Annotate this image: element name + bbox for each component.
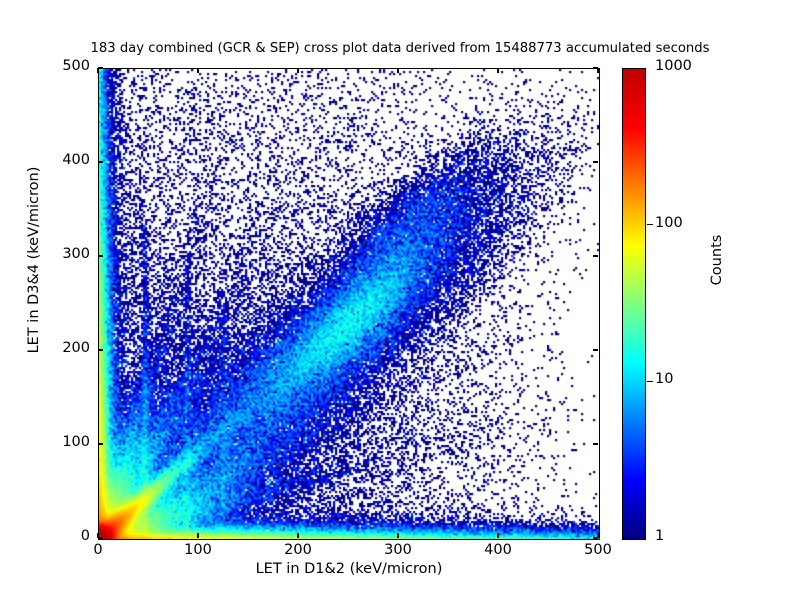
x-tick-label: 300 <box>358 542 438 558</box>
colorbar-tick-label: 1000 <box>655 58 692 74</box>
x-tick-mark <box>197 68 198 73</box>
y-tick-label: 400 <box>10 152 90 168</box>
y-tick-label: 500 <box>10 58 90 74</box>
title-line-1: 183 day combined (GCR & SEP) cross plot … <box>0 40 800 58</box>
y-tick-label: 300 <box>10 246 90 262</box>
x-tick-mark <box>397 68 398 73</box>
colorbar-tick-label: 1 <box>655 528 664 544</box>
x-axis-label: LET in D1&2 (keV/micron) <box>98 561 600 577</box>
x-tick-mark <box>97 68 98 73</box>
y-tick-mark <box>98 67 103 68</box>
colorbar-tick-mark <box>647 224 653 225</box>
x-tick-label: 0 <box>58 542 138 558</box>
y-tick-mark <box>98 537 103 538</box>
y-tick-mark <box>593 67 598 68</box>
y-axis-label: LET in D3&4 (keV/micron) <box>26 100 42 420</box>
x-tick-label: 200 <box>258 542 338 558</box>
y-tick-mark <box>593 443 598 444</box>
colorbar-gradient <box>623 69 645 539</box>
y-tick-mark <box>98 161 103 162</box>
colorbar-label: Counts <box>709 160 725 360</box>
y-tick-mark <box>593 349 598 350</box>
x-tick-mark <box>397 533 398 538</box>
x-tick-mark <box>197 533 198 538</box>
x-tick-mark <box>497 68 498 73</box>
x-tick-label: 500 <box>558 542 638 558</box>
y-tick-mark <box>593 537 598 538</box>
x-tick-label: 100 <box>158 542 238 558</box>
y-tick-label: 100 <box>10 434 90 450</box>
y-tick-mark <box>98 443 103 444</box>
colorbar <box>622 68 646 540</box>
x-tick-label: 400 <box>458 542 538 558</box>
y-tick-mark <box>98 349 103 350</box>
x-tick-mark <box>597 68 598 73</box>
x-tick-mark <box>297 68 298 73</box>
y-tick-mark <box>98 255 103 256</box>
x-tick-mark <box>297 533 298 538</box>
colorbar-tick-mark <box>647 381 653 382</box>
figure-canvas: 183 day combined (GCR & SEP) cross plot … <box>0 0 800 600</box>
y-tick-mark <box>593 255 598 256</box>
x-tick-mark <box>497 533 498 538</box>
y-tick-mark <box>593 161 598 162</box>
colorbar-tick-label: 100 <box>655 215 683 231</box>
y-tick-label: 200 <box>10 340 90 356</box>
plot-area <box>98 68 600 540</box>
y-tick-label: 0 <box>10 528 90 544</box>
colorbar-tick-label: 10 <box>655 371 673 387</box>
density-heatmap <box>99 69 599 539</box>
